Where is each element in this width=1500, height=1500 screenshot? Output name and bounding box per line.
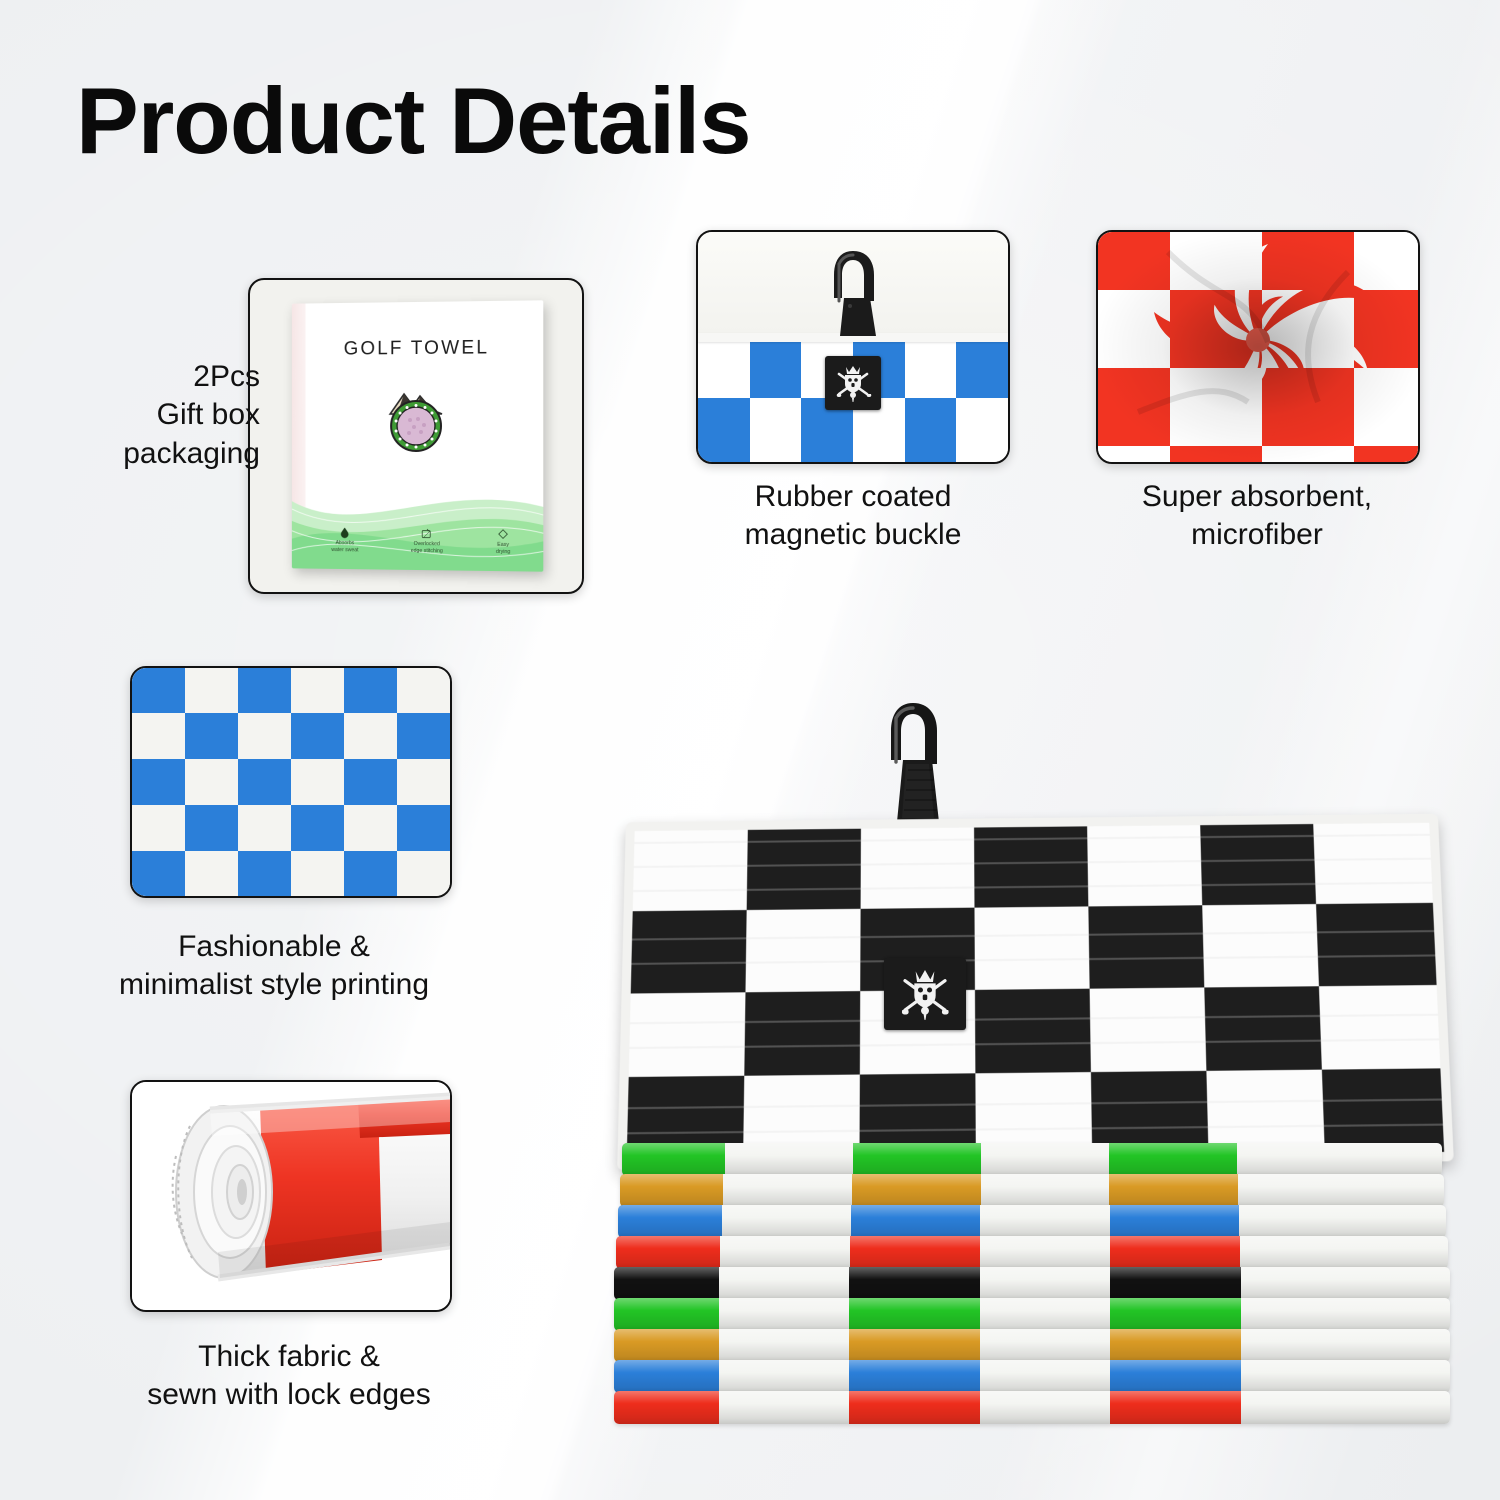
hero-stack-layer xyxy=(616,1236,1448,1269)
hero-stack-layer xyxy=(614,1360,1450,1393)
hero-stack-layer xyxy=(620,1174,1444,1207)
gift-box-render: GOLF TOWEL xyxy=(292,300,543,571)
hero-stack-layer xyxy=(614,1329,1450,1362)
hero-stack-layer xyxy=(614,1298,1450,1331)
feature-image-printing xyxy=(130,666,452,898)
feature-image-lock-edges xyxy=(130,1080,452,1312)
page-title: Product Details xyxy=(76,74,751,168)
feature-caption-lock-edges: Thick fabric & sewn with lock edges xyxy=(98,1338,480,1415)
hero-stack-layer xyxy=(614,1391,1450,1424)
hero-stack-layer xyxy=(622,1143,1442,1176)
water-drop-icon xyxy=(340,527,350,538)
hero-stack-layer xyxy=(618,1205,1446,1238)
feature-image-microfiber xyxy=(1096,230,1420,464)
gift-box-feature-icons: Absorbs water sweat Overlocked edge stit… xyxy=(306,527,538,555)
feature-caption-gift-box: 2Pcs Gift box packaging xyxy=(60,358,260,473)
hero-stack-layer xyxy=(614,1267,1450,1300)
carabiner-clip-icon xyxy=(826,246,880,338)
golf-crown-logo-patch-icon xyxy=(884,958,966,1030)
feature-image-gift-box: GOLF TOWEL xyxy=(248,278,584,594)
stitching-icon xyxy=(421,528,432,539)
golf-crown-logo-patch-icon xyxy=(825,356,881,410)
feature-caption-microfiber: Super absorbent, microfiber xyxy=(1092,478,1422,555)
gift-box-icon-0: Absorbs water sweat xyxy=(331,527,358,553)
feature-image-magnetic-buckle xyxy=(696,230,1010,464)
gift-box-icon-label-1: Overlocked edge stitching xyxy=(411,541,443,554)
hero-checkerboard-pattern xyxy=(627,823,1445,1161)
gift-box-icon-1: Overlocked edge stitching xyxy=(411,528,443,554)
gift-box-icon-2: Easy drying xyxy=(496,529,510,555)
gift-box-icon-label-0: Absorbs water sweat xyxy=(331,540,358,553)
swirled-fabric-photo xyxy=(1098,232,1418,462)
feature-caption-printing: Fashionable & minimalist style printing xyxy=(78,928,470,1005)
rolled-towel-photo xyxy=(132,1082,450,1310)
hero-stacked-towels xyxy=(600,690,1480,1420)
feature-caption-magnetic-buckle: Rubber coated magnetic buckle xyxy=(700,478,1006,555)
gift-box-title: GOLF TOWEL xyxy=(292,337,543,361)
carabiner-clip-icon xyxy=(882,698,944,826)
hero-top-towel xyxy=(626,818,1438,1158)
quick-dry-icon xyxy=(498,529,509,540)
infographic-canvas: Product Details GOLF TOWEL xyxy=(0,0,1500,1500)
hero-towel-stack xyxy=(614,1145,1450,1424)
checkerboard-swatch xyxy=(132,668,450,896)
gift-box-icon-label-2: Easy drying xyxy=(496,542,510,555)
